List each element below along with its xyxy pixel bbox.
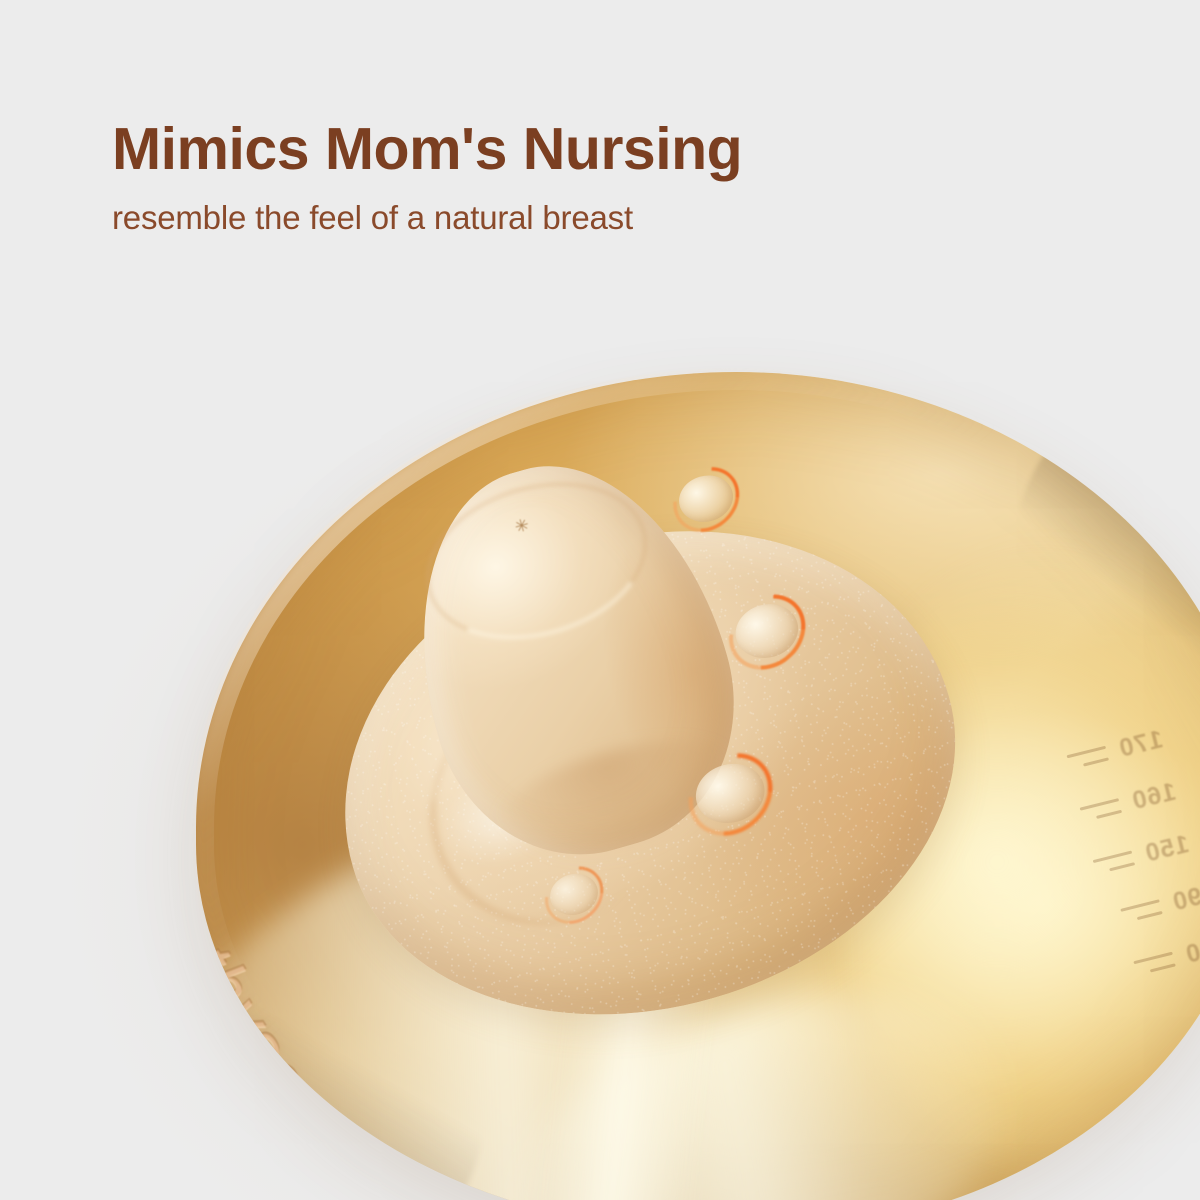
graduation-ticks [1120, 899, 1162, 923]
graduation-value: 90 [1169, 882, 1200, 917]
graduation-ticks [1093, 850, 1135, 874]
nipple-feed-hole: ✳ [512, 516, 532, 535]
graduation-value: 170 [1115, 725, 1165, 764]
graduation-value: 80 [1182, 934, 1200, 969]
graduation-ticks [1067, 745, 1109, 769]
page-subtitle: resemble the feel of a natural breast [112, 198, 1012, 238]
marketing-copy: Mimics Mom's Nursing resemble the feel o… [112, 118, 1012, 237]
graduation-value: 150 [1142, 829, 1192, 868]
anti-colic-bump [545, 868, 603, 920]
product-marketing-banner: thyseed 170 160 150 [0, 0, 1200, 1200]
graduation-ticks [1133, 951, 1175, 975]
anti-colic-bump [673, 469, 738, 528]
graduation-ticks [1080, 798, 1122, 822]
graduation-value: 160 [1129, 777, 1179, 816]
page-title: Mimics Mom's Nursing [112, 118, 1012, 182]
